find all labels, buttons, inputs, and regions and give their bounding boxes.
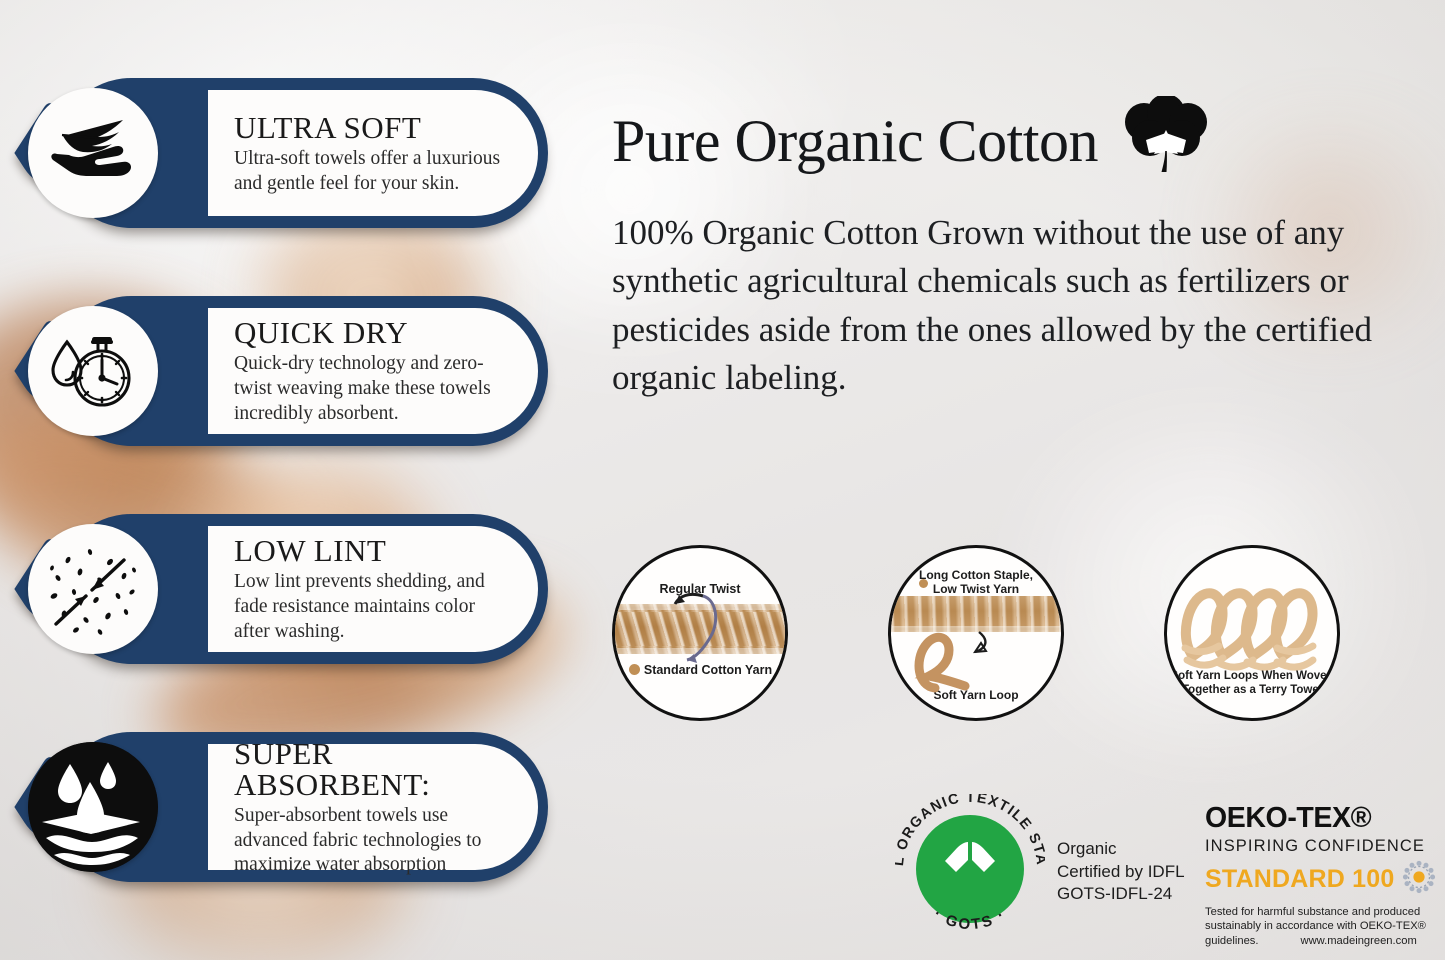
oeko-sun-icon <box>1402 860 1436 899</box>
feature-title: LOW LINT <box>234 535 512 566</box>
feature-description: Ultra-soft towels offer a luxurious and … <box>234 147 512 197</box>
gots-detail-line-2: Certified by IDFL <box>1057 861 1185 884</box>
water-droplets-fabric-icon <box>28 742 158 872</box>
feature-title: SUPER ABSORBENT: <box>234 738 512 800</box>
headline-row: Pure Organic Cotton <box>612 96 1420 187</box>
oeko-fine-line-1: Tested for harmful substance and produce… <box>1205 905 1437 920</box>
oeko-fine-line-3-row: guidelines. www.madeingreen.com <box>1205 934 1437 949</box>
feature-description: Super-absorbent towels use advanced fabr… <box>234 804 512 878</box>
yarn-bottom-label: Soft Yarn Loops When Woven Together as a… <box>1167 670 1337 697</box>
feature-card-super-absorbent: SUPER ABSORBENT: Super-absorbent towels … <box>18 732 578 882</box>
oeko-subtitle: INSPIRING CONFIDENCE <box>1205 837 1437 856</box>
lint-particles-arrows-icon <box>28 524 158 654</box>
gots-logo: GLOBAL ORGANIC TEXTILE STANDARD · GOTS · <box>895 794 1045 944</box>
infographic-canvas: ULTRA SOFT Ultra-soft towels offer a lux… <box>0 0 1445 960</box>
oeko-url: www.madeingreen.com <box>1301 934 1417 949</box>
oeko-fine-line-3: guidelines. <box>1205 934 1259 949</box>
yarn-diagram-low-twist: Long Cotton Staple, Low Twist Yarn Soft … <box>888 545 1064 721</box>
feature-card-low-lint: LOW LINT Low lint prevents shedding, and… <box>18 514 578 664</box>
pill-inner-panel: QUICK DRY Quick-dry technology and zero-… <box>208 308 538 434</box>
pill-inner-panel: ULTRA SOFT Ultra-soft towels offer a lux… <box>208 90 538 216</box>
oeko-tex-badge: OEKO-TEX® INSPIRING CONFIDENCE STANDARD … <box>1205 804 1437 949</box>
feature-title: ULTRA SOFT <box>234 112 512 143</box>
oeko-standard-row: STANDARD 100 <box>1205 860 1437 899</box>
gots-certification-details: Organic Certified by IDFL GOTS-IDFL-24 <box>1057 838 1185 906</box>
oeko-title: OEKO-TEX® <box>1205 804 1437 833</box>
oeko-fine-line-2: sustainably in accordance with OEKO-TEX® <box>1205 919 1437 934</box>
hero-body-text: 100% Organic Cotton Grown without the us… <box>612 209 1412 402</box>
yarn-diagram-row: Regular Twist Standard Cotton Yarn Long … <box>612 545 1352 721</box>
yarn-diagram-regular-twist: Regular Twist Standard Cotton Yarn <box>612 545 788 721</box>
feature-description: Quick-dry technology and zero-twist weav… <box>234 352 512 426</box>
feature-card-quick-dry: QUICK DRY Quick-dry technology and zero-… <box>18 296 578 446</box>
gots-detail-line-3: GOTS-IDFL-24 <box>1057 883 1185 906</box>
yarn-diagram-terry-loops: Soft Yarn Loops When Woven Together as a… <box>1164 545 1340 721</box>
feature-title: QUICK DRY <box>234 317 512 348</box>
hero-section: Pure Organic Cotton <box>612 96 1420 402</box>
certification-row: GLOBAL ORGANIC TEXTILE STANDARD · GOTS ·… <box>895 788 1435 956</box>
feature-description: Low lint prevents shedding, and fade res… <box>234 570 512 644</box>
feature-list: ULTRA SOFT Ultra-soft towels offer a lux… <box>18 78 578 882</box>
feature-card-ultra-soft: ULTRA SOFT Ultra-soft towels offer a lux… <box>18 78 578 228</box>
page-title: Pure Organic Cotton <box>612 110 1098 173</box>
oeko-standard-label: STANDARD 100 <box>1205 867 1394 892</box>
oeko-fine-print: Tested for harmful substance and produce… <box>1205 905 1437 950</box>
gots-detail-line-1: Organic <box>1057 838 1185 861</box>
cotton-boll-icon <box>1116 96 1216 187</box>
pill-inner-panel: LOW LINT Low lint prevents shedding, and… <box>208 526 538 652</box>
hand-holding-feather-icon <box>28 88 158 218</box>
stopwatch-droplet-icon <box>28 306 158 436</box>
pill-inner-panel: SUPER ABSORBENT: Super-absorbent towels … <box>208 744 538 870</box>
